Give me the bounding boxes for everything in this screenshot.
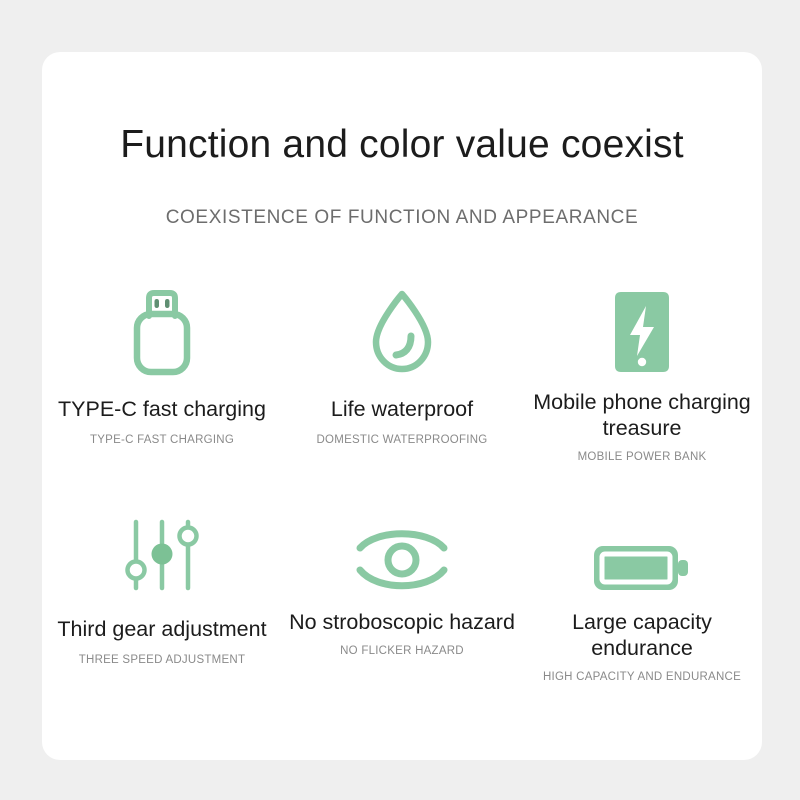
feature-caption: DOMESTIC WATERPROOFING: [282, 434, 522, 446]
water-drop-icon: [282, 270, 522, 378]
page-subtitle: COEXISTENCE OF FUNCTION AND APPEARANCE: [42, 207, 762, 229]
feature-caption: TYPE-C FAST CHARGING: [42, 434, 282, 446]
page-title: Function and color value coexist: [42, 124, 762, 167]
feature-item-waterproof: Life waterproof DOMESTIC WATERPROOFING: [282, 270, 522, 446]
feature-row-1: TYPE-C fast charging TYPE-C FAST CHARGIN…: [42, 270, 762, 490]
sliders-icon: [42, 490, 282, 598]
feature-row-2: Third gear adjustment THREE SPEED ADJUST…: [42, 490, 762, 710]
eye-icon: [282, 490, 522, 598]
phone-charging-icon: [522, 270, 762, 378]
feature-item-gear-adjust: Third gear adjustment THREE SPEED ADJUST…: [42, 490, 282, 666]
feature-caption: THREE SPEED ADJUSTMENT: [42, 654, 282, 666]
feature-caption: HIGH CAPACITY AND ENDURANCE: [522, 671, 762, 683]
feature-card: Function and color value coexist COEXIST…: [42, 52, 762, 760]
feature-item-capacity: Large capacity endurance HIGH CAPACITY A…: [522, 490, 762, 683]
feature-label: TYPE-C fast charging: [42, 396, 282, 422]
feature-caption: NO FLICKER HAZARD: [282, 645, 522, 657]
feature-label: Mobile phone charging treasure: [522, 389, 762, 441]
feature-label: Third gear adjustment: [42, 616, 282, 642]
feature-item-no-flicker: No stroboscopic hazard NO FLICKER HAZARD: [282, 490, 522, 657]
feature-item-type-c: TYPE-C fast charging TYPE-C FAST CHARGIN…: [42, 270, 282, 446]
feature-label: Large capacity endurance: [522, 609, 762, 661]
feature-label: No stroboscopic hazard: [282, 609, 522, 635]
battery-icon: [522, 490, 762, 598]
usb-type-c-icon: [42, 270, 282, 378]
feature-grid: TYPE-C fast charging TYPE-C FAST CHARGIN…: [42, 270, 762, 710]
feature-caption: MOBILE POWER BANK: [522, 451, 762, 463]
feature-label: Life waterproof: [282, 396, 522, 422]
poster-canvas: Function and color value coexist COEXIST…: [0, 0, 800, 800]
feature-item-power-bank: Mobile phone charging treasure MOBILE PO…: [522, 270, 762, 463]
